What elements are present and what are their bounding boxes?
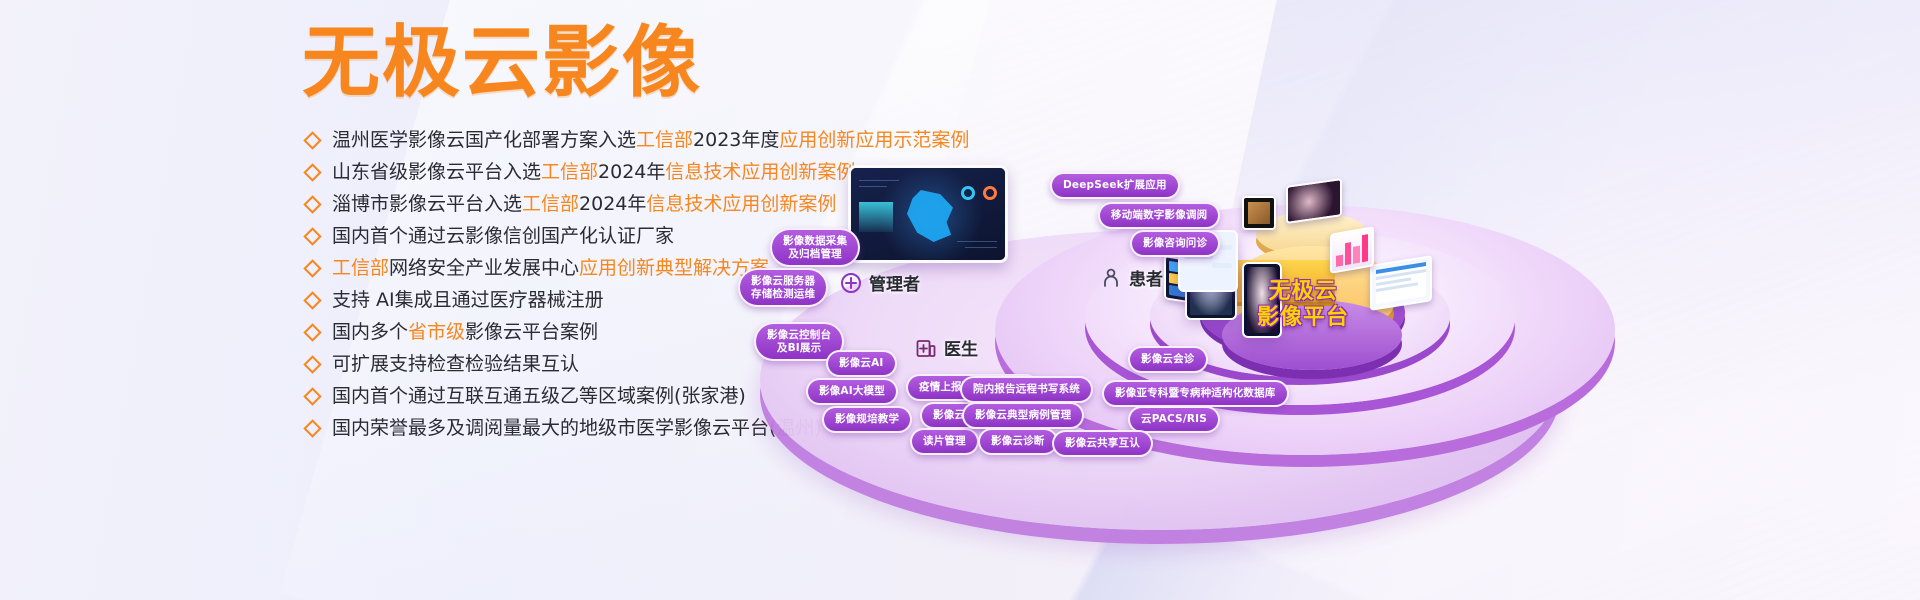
dashboard-bar-chart [859, 202, 893, 232]
role-badge-admin[interactable]: 管理者 [840, 270, 920, 295]
achievement-text: 国内首个通过互联互通五级乙等区域案例(张家港) [332, 383, 746, 410]
pill-label-line-1: 影像AI大模型 [819, 385, 885, 398]
achievement-text: 支持 AI集成且通过医疗器械注册 [332, 287, 604, 314]
highlight-segment: 工信部 [522, 193, 579, 215]
capability-pill[interactable]: 云PACS/RIS [1128, 406, 1220, 433]
pill-label-line-1: DeepSeek扩展应用 [1063, 179, 1167, 192]
pill-label-line-1: 影像云AI [839, 357, 884, 370]
pill-label-line-1: 影像规培教学 [835, 413, 899, 426]
plain-segment: 网络安全产业发展中心 [389, 257, 579, 279]
plain-segment: 国内首个通过互联互通五级乙等区域案例(张家港) [332, 385, 746, 407]
plain-segment: 山东省级影像云平台入选 [332, 161, 541, 183]
diamond-bullet-icon [303, 387, 321, 405]
diamond-bullet-icon [303, 323, 321, 341]
capability-pill[interactable]: DeepSeek扩展应用 [1050, 172, 1180, 199]
plain-segment: 温州医学影像云国产化部署方案入选 [332, 129, 636, 151]
plain-segment: 2024年 [579, 193, 646, 215]
capability-pill[interactable]: 影像规培教学 [822, 406, 912, 433]
diamond-bullet-icon [303, 419, 321, 437]
pill-label-line-1: 影像数据采集 [783, 235, 847, 248]
pill-label-line-1: 读片管理 [923, 435, 966, 448]
diamond-bullet-icon [303, 259, 321, 277]
pill-label-line-2: 及BI展示 [767, 342, 831, 355]
pill-label-line-1: 影像亚专科暨专病种适构化数据库 [1115, 387, 1276, 400]
pill-label-line-1: 影像云典型病例管理 [975, 409, 1071, 422]
pill-label-line-1: 影像云诊断 [991, 435, 1045, 448]
patient-person-icon [1100, 267, 1122, 289]
plain-segment: 支持 AI集成且通过医疗器械注册 [332, 289, 604, 311]
role-label-patient: 患者 [1129, 265, 1163, 290]
diamond-bullet-icon [303, 131, 321, 149]
mini-screen-report [1370, 255, 1432, 311]
capability-pill[interactable]: 影像云服务器存储检测运维 [738, 268, 828, 307]
diamond-bullet-icon [303, 163, 321, 181]
banner-stage: 无极云影像 温州医学影像云国产化部署方案入选工信部2023年度应用创新应用示范案… [0, 0, 1920, 600]
mini-screen-xray-wide [1286, 178, 1342, 224]
capability-pill[interactable]: 读片管理 [910, 428, 979, 455]
dashboard-tablet-preview [848, 165, 1008, 263]
capability-pill[interactable]: 影像数据采集及归档管理 [770, 228, 860, 267]
pill-label-line-2: 及归档管理 [783, 248, 847, 261]
capability-pill[interactable]: 影像云诊断 [978, 428, 1058, 455]
page-title: 无极云影像 [302, 24, 702, 102]
plain-segment: 国内多个 [332, 321, 408, 343]
achievement-text: 国内多个省市级影像云平台案例 [332, 319, 598, 346]
pill-label-line-1: 影像咨询问诊 [1143, 237, 1207, 250]
highlight-segment: 工信部 [636, 129, 693, 151]
capability-pill[interactable]: 影像云会诊 [1128, 346, 1208, 373]
mobile-phone-card [1242, 262, 1282, 338]
diamond-bullet-icon [303, 355, 321, 373]
plain-segment: 淄博市影像云平台入选 [332, 193, 522, 215]
platform-architecture-diagram: 无极云 影像平台 管理者 患者 [730, 110, 1920, 510]
role-label-doctor: 医生 [944, 335, 978, 360]
highlight-segment: 工信部 [541, 161, 598, 183]
plain-segment: 2024年 [598, 161, 665, 183]
capability-pill[interactable]: 影像亚专科暨专病种适构化数据库 [1102, 380, 1289, 407]
capability-pill[interactable]: 影像云典型病例管理 [962, 402, 1084, 429]
role-badge-patient[interactable]: 患者 [1100, 265, 1163, 290]
pill-label-line-1: 移动端数字影像调阅 [1111, 209, 1207, 222]
admin-plus-icon [840, 272, 862, 294]
achievement-text: 可扩展支持检查检验结果互认 [332, 351, 579, 378]
diamond-bullet-icon [303, 291, 321, 309]
pill-label-line-1: 影像云会诊 [1141, 353, 1195, 366]
pill-label-line-1: 院内报告远程书写系统 [973, 383, 1080, 396]
role-label-admin: 管理者 [869, 270, 920, 295]
capability-pill[interactable]: 影像云共享互认 [1052, 430, 1153, 457]
capability-pill[interactable]: 院内报告远程书写系统 [960, 376, 1093, 403]
pill-label-line-1: 影像云共享互认 [1065, 437, 1140, 450]
capability-pill[interactable]: 影像AI大模型 [806, 378, 898, 405]
achievement-text: 工信部网络安全产业发展中心应用创新典型解决方案 [332, 255, 769, 282]
pill-label-line-2: 存储检测运维 [751, 288, 815, 301]
mini-screen-scan [1242, 196, 1276, 230]
plain-segment: 国内首个通过云影像信创国产化认证厂家 [332, 225, 674, 247]
diamond-bullet-icon [303, 195, 321, 213]
role-badge-doctor[interactable]: 医生 [915, 335, 978, 360]
pill-label-line-1: 影像云控制台 [767, 329, 831, 342]
capability-pill[interactable]: 影像云AI [826, 350, 897, 377]
plain-segment: 影像云平台案例 [465, 321, 598, 343]
diamond-bullet-icon [303, 227, 321, 245]
capability-pill[interactable]: 影像咨询问诊 [1130, 230, 1220, 257]
mini-screen-chart [1330, 226, 1374, 274]
pill-label-line-1: 影像云服务器 [751, 275, 815, 288]
achievement-text: 国内首个通过云影像信创国产化认证厂家 [332, 223, 674, 250]
capability-pill[interactable]: 移动端数字影像调阅 [1098, 202, 1220, 229]
highlight-segment: 工信部 [332, 257, 389, 279]
pill-label-line-1: 云PACS/RIS [1141, 413, 1207, 426]
doctor-case-icon [915, 337, 937, 359]
highlight-segment: 省市级 [408, 321, 465, 343]
plain-segment: 可扩展支持检查检验结果互认 [332, 353, 579, 375]
